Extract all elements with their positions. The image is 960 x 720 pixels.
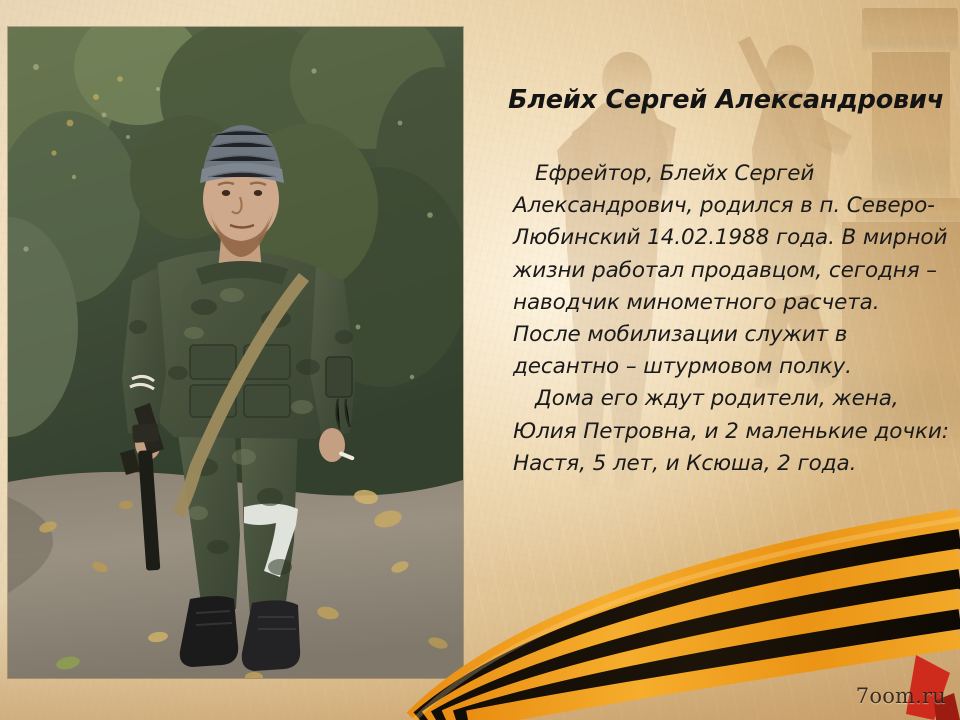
memorial-slide: Блейх Сергей Александрович Ефрейтор, Бле…	[0, 0, 960, 720]
soldier-photo	[8, 27, 463, 678]
biography-paragraph-1: Ефрейтор, Блейх Сергей Александрович, ро…	[513, 158, 953, 383]
biography-paragraph-2: Дома его ждут родители, жена, Юлия Петро…	[513, 383, 953, 480]
biography-text: Ефрейтор, Блейх Сергей Александрович, ро…	[513, 158, 953, 480]
page-title: Блейх Сергей Александрович	[500, 86, 952, 115]
watermark: 7oom.ru	[856, 684, 946, 708]
